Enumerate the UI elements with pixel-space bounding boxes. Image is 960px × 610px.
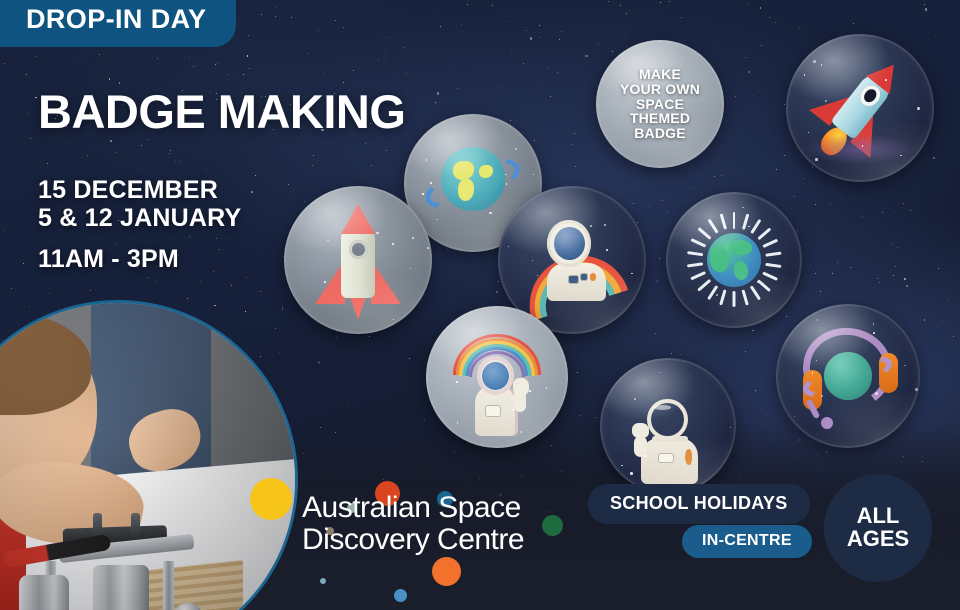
badge-face: MAKEYOUR OWNSPACETHEMEDBADGE (596, 40, 724, 168)
sun-ray (697, 279, 711, 292)
sun-ray (719, 290, 726, 306)
sun-ray (742, 214, 749, 230)
sun-ray (765, 252, 782, 257)
school-holidays-tag: SCHOOL HOLIDAYS (588, 484, 810, 524)
badge-face (284, 186, 432, 334)
rocket-illustration (315, 198, 401, 322)
earth-rays-badge (666, 192, 802, 328)
sun-ray (719, 214, 726, 230)
banner-label: DROP-IN DAY (26, 4, 206, 35)
callout-badge: MAKEYOUR OWNSPACETHEMEDBADGE (596, 40, 724, 168)
date-line-1: 15 DECEMBER (38, 176, 241, 204)
all-ages-tag: ALL AGES (824, 474, 932, 582)
saturn-globe (824, 352, 872, 400)
astronaut-chest-badge (590, 273, 596, 281)
logo-dot-6 (432, 557, 461, 586)
sun-ray (733, 291, 736, 307)
photo-shading (0, 303, 295, 610)
astronaut-waving-hand (632, 423, 649, 439)
headphone-mic-tip (821, 417, 833, 429)
sun-ray (697, 228, 711, 241)
sun-ray (687, 263, 704, 268)
logo-dot-4 (542, 515, 563, 536)
promotional-poster: MAKEYOUR OWNSPACETHEMEDBADGE DROP-IN DAY… (0, 0, 960, 610)
earth-continent-2 (731, 240, 753, 254)
page-title: BADGE MAKING (38, 88, 405, 135)
school-holidays-label: SCHOOL HOLIDAYS (610, 493, 788, 513)
earth-continent-3 (734, 261, 748, 279)
logo-line-2: Discovery Centre (302, 524, 524, 556)
photo-content (0, 303, 295, 610)
astronaut-waving-hand (513, 378, 529, 395)
astronaut-chest-panel-2 (580, 273, 588, 282)
rocket-nose (341, 204, 375, 234)
rocket-fin-right (371, 260, 401, 304)
sun-ray (707, 219, 718, 234)
sun-ray (690, 272, 706, 281)
astronaut-rainbow-badge (426, 306, 568, 448)
drop-in-day-banner: DROP-IN DAY (0, 0, 236, 47)
astronaut-visor (554, 227, 585, 261)
yellow-accent-dot (250, 478, 292, 520)
sun-ray (750, 219, 761, 234)
date-line-2: 5 & 12 JANUARY (38, 204, 241, 232)
activity-photo (0, 300, 298, 610)
earth-globe (707, 233, 761, 287)
earth-continent-1 (710, 246, 728, 272)
planet-landmass-1 (453, 161, 475, 180)
badge-callout-text: MAKEYOUR OWNSPACETHEMEDBADGE (596, 40, 724, 168)
planet-globe (441, 147, 504, 210)
time-line: 11AM - 3PM (38, 245, 241, 273)
astronaut-chest-panel (485, 405, 501, 417)
rocket-trail (802, 134, 918, 164)
logo-dot-7 (394, 589, 407, 602)
sun-ray (750, 286, 761, 301)
badge-face (786, 34, 934, 182)
logo-line-1: Australian Space (302, 492, 524, 524)
in-centre-tag: IN-CENTRE (682, 525, 812, 558)
astronaut-visor (482, 362, 509, 390)
rocket-window (349, 240, 368, 259)
rocket-upright-badge (284, 186, 432, 334)
astronaut-visor-glint (654, 405, 671, 410)
planet-landmass-3 (479, 165, 493, 178)
sun-ray (757, 228, 771, 241)
logo-dot-8 (320, 578, 326, 584)
organisation-logo: Australian Space Discovery Centre (302, 492, 524, 556)
saturn-headphones-badge (776, 304, 920, 448)
astronaut-chest-panel (568, 275, 579, 284)
sun-ray (733, 212, 736, 228)
badge-face (426, 306, 568, 448)
badge-face (666, 192, 802, 328)
planet-landmass-2 (458, 179, 475, 201)
sun-ray (762, 239, 778, 248)
badge-face (776, 304, 920, 448)
sun-ray (707, 286, 718, 301)
event-details: 15 DECEMBER 5 & 12 JANUARY 11AM - 3PM (38, 176, 241, 273)
in-centre-label: IN-CENTRE (702, 532, 792, 549)
rocket-tilted-badge (786, 34, 934, 182)
astronaut-waving-badge (600, 358, 736, 494)
title-text: BADGE MAKING (38, 88, 405, 135)
sun-ray (687, 252, 704, 257)
sun-ray (765, 263, 782, 268)
astronaut-chest-panel (658, 453, 674, 463)
astronaut-waving-arm (634, 436, 647, 458)
badge-face (600, 358, 736, 494)
all-ages-label: ALL AGES (847, 505, 909, 551)
sun-ray (762, 272, 778, 281)
sun-ray (690, 239, 706, 248)
